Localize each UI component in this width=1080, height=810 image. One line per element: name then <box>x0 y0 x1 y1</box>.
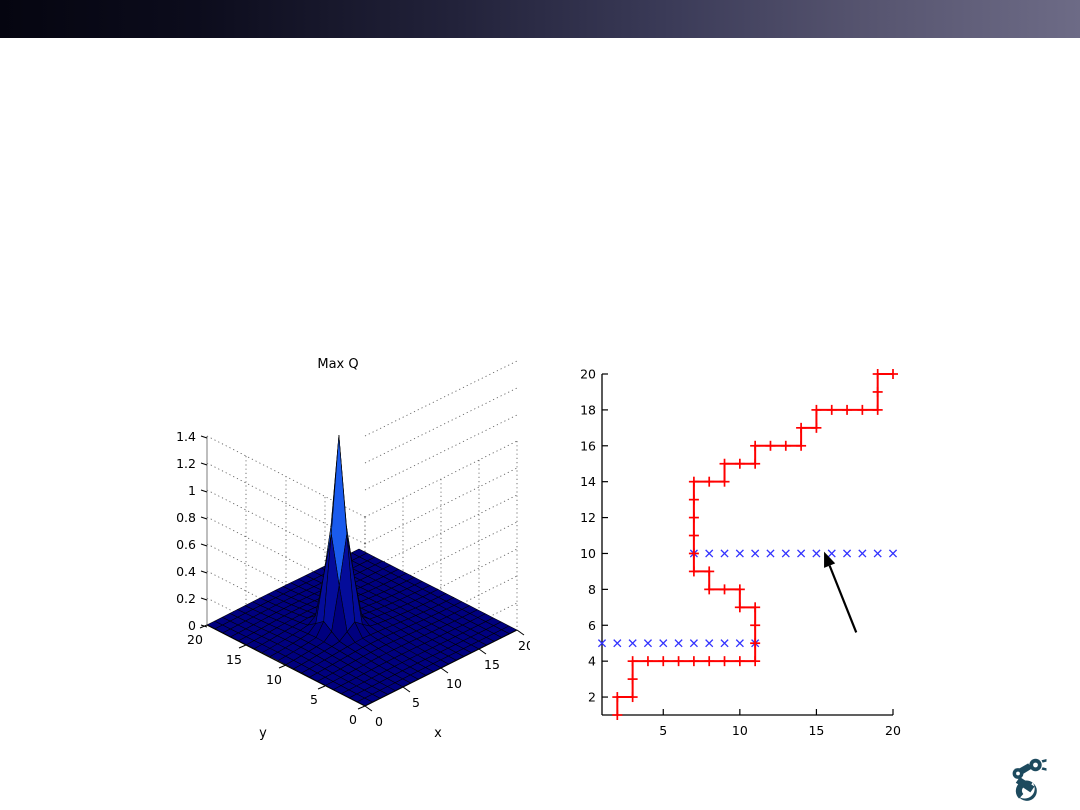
marker-plus <box>720 459 730 469</box>
marker-x <box>721 640 728 647</box>
surface-ytick-5: 5 <box>310 692 318 707</box>
marker-x <box>767 550 774 557</box>
path-plot-figure: 2468101214161820 5101520 <box>568 360 913 752</box>
marker-plus <box>643 656 653 666</box>
marker-x <box>843 550 850 557</box>
marker-x <box>889 550 896 557</box>
marker-plus <box>750 620 760 630</box>
marker-plus <box>704 477 714 487</box>
marker-plus <box>720 656 730 666</box>
surface-plot-svg: Max Q <box>150 352 530 752</box>
marker-x <box>828 550 835 557</box>
path-ytick-8: 8 <box>588 582 596 597</box>
path-ytick-2: 2 <box>588 690 596 705</box>
surface-ytick-20: 20 <box>187 632 203 647</box>
path-y-ticks: 2468101214161820 <box>580 367 608 705</box>
marker-x <box>629 640 636 647</box>
surface-ytick-10: 10 <box>266 672 282 687</box>
path-xtick-20: 20 <box>885 723 901 738</box>
marker-plus <box>796 423 806 433</box>
marker-x <box>690 640 697 647</box>
marker-plus <box>735 584 745 594</box>
marker-plus <box>873 369 883 379</box>
path-ytick-4: 4 <box>588 654 596 669</box>
path-xtick-5: 5 <box>659 723 667 738</box>
surface-xtick-20: 20 <box>518 638 530 653</box>
slide-canvas: Max Q <box>0 0 1080 810</box>
marker-x <box>752 550 759 557</box>
marker-x <box>660 640 667 647</box>
robot-arm-logo-svg <box>1008 756 1054 802</box>
surface-plot-title: Max Q <box>317 357 358 372</box>
marker-plus <box>689 477 699 487</box>
marker-x <box>614 640 621 647</box>
surface-plot-figure: Max Q <box>150 352 530 752</box>
marker-plus <box>628 656 638 666</box>
marker-plus <box>704 566 714 576</box>
marker-plus <box>781 441 791 451</box>
marker-plus <box>750 656 760 666</box>
series-wall-upper <box>690 550 896 557</box>
path-ytick-14: 14 <box>580 474 596 489</box>
surface-ztick-0.4: 0.4 <box>176 564 196 579</box>
marker-plus <box>689 566 699 576</box>
surface-ztick-0.6: 0.6 <box>176 537 196 552</box>
marker-x <box>874 550 881 557</box>
marker-x <box>736 640 743 647</box>
marker-plus <box>628 674 638 684</box>
surface-mesh <box>207 435 517 706</box>
path-x-ticks: 5101520 <box>659 709 901 738</box>
marker-plus <box>612 692 622 702</box>
marker-plus <box>811 405 821 415</box>
marker-x <box>706 640 713 647</box>
path-ytick-18: 18 <box>580 402 596 417</box>
marker-x <box>675 640 682 647</box>
path-ytick-12: 12 <box>580 510 596 525</box>
marker-plus <box>704 584 714 594</box>
marker-plus <box>857 405 867 415</box>
marker-plus <box>811 423 821 433</box>
surface-ytick-15: 15 <box>226 652 242 667</box>
marker-x <box>721 550 728 557</box>
path-ytick-16: 16 <box>580 438 596 453</box>
marker-plus <box>750 602 760 612</box>
marker-x <box>813 550 820 557</box>
surface-xtick-5: 5 <box>412 695 420 710</box>
path-xtick-10: 10 <box>732 723 748 738</box>
surface-xtick-0: 0 <box>375 714 383 729</box>
marker-plus <box>735 656 745 666</box>
marker-plus <box>842 405 852 415</box>
marker-plus <box>750 441 760 451</box>
marker-plus <box>720 584 730 594</box>
marker-plus <box>689 513 699 523</box>
series-wall-lower <box>598 640 758 647</box>
surface-xtick-15: 15 <box>484 657 500 672</box>
marker-plus <box>689 656 699 666</box>
marker-x <box>706 550 713 557</box>
marker-plus <box>612 710 622 720</box>
marker-plus <box>765 441 775 451</box>
surface-xtick-10: 10 <box>446 676 462 691</box>
marker-x <box>736 550 743 557</box>
marker-plus <box>750 459 760 469</box>
marker-x <box>782 550 789 557</box>
marker-x <box>644 640 651 647</box>
surface-z-ticks: 1.4 1.2 1 0.8 0.6 0.4 0.2 0 <box>176 429 207 633</box>
surface-ztick-0.2: 0.2 <box>176 591 196 606</box>
marker-plus <box>628 692 638 702</box>
marker-plus <box>873 387 883 397</box>
surface-y-axis-label: y <box>259 726 267 741</box>
surface-ztick-1: 1 <box>188 483 196 498</box>
marker-plus <box>735 602 745 612</box>
surface-ztick-0.8: 0.8 <box>176 510 196 525</box>
path-ytick-6: 6 <box>588 618 596 633</box>
path-ytick-20: 20 <box>580 367 596 382</box>
marker-plus <box>674 656 684 666</box>
marker-x <box>859 550 866 557</box>
marker-plus <box>873 405 883 415</box>
surface-ytick-0: 0 <box>349 712 357 727</box>
marker-plus <box>704 656 714 666</box>
surface-ztick-1.4: 1.4 <box>176 429 196 444</box>
title-banner <box>0 0 1080 38</box>
marker-plus <box>827 405 837 415</box>
path-ytick-10: 10 <box>580 546 596 561</box>
pointer-arrow-annotation <box>824 552 856 633</box>
marker-plus <box>689 495 699 505</box>
marker-plus <box>735 459 745 469</box>
surface-ztick-1.2: 1.2 <box>176 456 196 471</box>
surface-ztick-0: 0 <box>188 618 196 633</box>
marker-x <box>798 550 805 557</box>
marker-plus <box>689 531 699 541</box>
marker-plus <box>796 441 806 451</box>
marker-plus <box>720 477 730 487</box>
robot-arm-logo <box>1008 756 1054 802</box>
marker-plus <box>658 656 668 666</box>
path-plot-svg: 2468101214161820 5101520 <box>568 360 913 752</box>
path-xtick-15: 15 <box>808 723 824 738</box>
surface-x-axis-label: x <box>434 726 442 741</box>
series-path <box>612 369 898 720</box>
marker-plus <box>888 369 898 379</box>
